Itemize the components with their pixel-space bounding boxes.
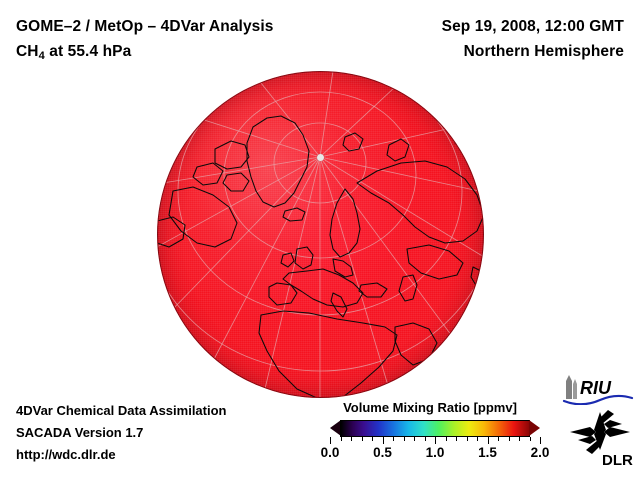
colorbar-tick-major <box>435 437 436 444</box>
colorbar-tick-minor <box>519 437 520 441</box>
colorbar-tick-minor <box>425 437 426 441</box>
colorbar-tick-label: 2.0 <box>531 445 550 460</box>
footer-left-block: 4DVar Chemical Data Assimilation SACADA … <box>16 400 227 466</box>
colorbar-tick-major <box>330 437 331 444</box>
colorbar-tick-minor <box>372 437 373 441</box>
riu-tower-icon-2 <box>573 379 577 399</box>
colorbar-tick-minor <box>404 437 405 441</box>
colorbar-tick-major <box>540 437 541 444</box>
colorbar-tick-labels: 0.00.51.01.52.0 <box>330 445 540 463</box>
colorbar: Volume Mixing Ratio [ppmv] 0.00.51.01.52… <box>310 400 550 463</box>
colorbar-tick-label: 0.0 <box>321 445 340 460</box>
dlr-wordmark: DLR <box>602 452 633 468</box>
species-name: CH <box>16 43 39 60</box>
colorbar-tick-minor <box>393 437 394 441</box>
riu-wordmark: RIU <box>580 378 612 398</box>
colorbar-tick-minor <box>498 437 499 441</box>
colorbar-tick-minor <box>467 437 468 441</box>
colorbar-tick-major <box>383 437 384 444</box>
globe-visualization <box>157 71 484 398</box>
colorbar-right-arrow-cap <box>529 420 540 436</box>
colorbar-gradient <box>340 420 530 437</box>
colorbar-tick-minor <box>446 437 447 441</box>
website-url[interactable]: http://wdc.dlr.de <box>16 444 227 466</box>
colorbar-tick-minor <box>362 437 363 441</box>
colorbar-tick-minor <box>351 437 352 441</box>
species-subscript: 4 <box>39 50 45 62</box>
product-description: 4DVar Chemical Data Assimilation <box>16 400 227 422</box>
colorbar-tick-minor <box>530 437 531 441</box>
dlr-logo: DLR <box>566 410 636 468</box>
graticule-meridians <box>157 71 484 398</box>
colorbar-title: Volume Mixing Ratio [ppmv] <box>310 400 550 415</box>
colorbar-tick-label: 1.5 <box>478 445 497 460</box>
globe-disc <box>157 71 484 398</box>
colorbar-tick-minor <box>414 437 415 441</box>
dlr-emblem-icon <box>570 410 630 454</box>
colorbar-tick-label: 0.5 <box>373 445 392 460</box>
globe-map-overlay <box>157 71 484 398</box>
riu-logo: RIU <box>560 375 634 405</box>
header-right-block: Sep 19, 2008, 12:00 GMT Northern Hemisph… <box>324 14 624 64</box>
region-label: Northern Hemisphere <box>324 39 624 64</box>
pressure-level-text: at 55.4 hPa <box>45 43 132 60</box>
colorbar-tick-minor <box>341 437 342 441</box>
riu-tower-icon <box>566 375 572 399</box>
version-label: SACADA Version 1.7 <box>16 422 227 444</box>
graticule-parallels <box>157 71 484 371</box>
north-pole-marker <box>317 154 324 161</box>
colorbar-tick-minor <box>477 437 478 441</box>
colorbar-tick-minor <box>509 437 510 441</box>
colorbar-tick-minor <box>456 437 457 441</box>
colorbar-gradient-row <box>330 420 540 437</box>
colorbar-ticks <box>330 437 540 444</box>
timestamp-label: Sep 19, 2008, 12:00 GMT <box>324 14 624 39</box>
colorbar-tick-major <box>488 437 489 444</box>
colorbar-tick-label: 1.0 <box>426 445 445 460</box>
